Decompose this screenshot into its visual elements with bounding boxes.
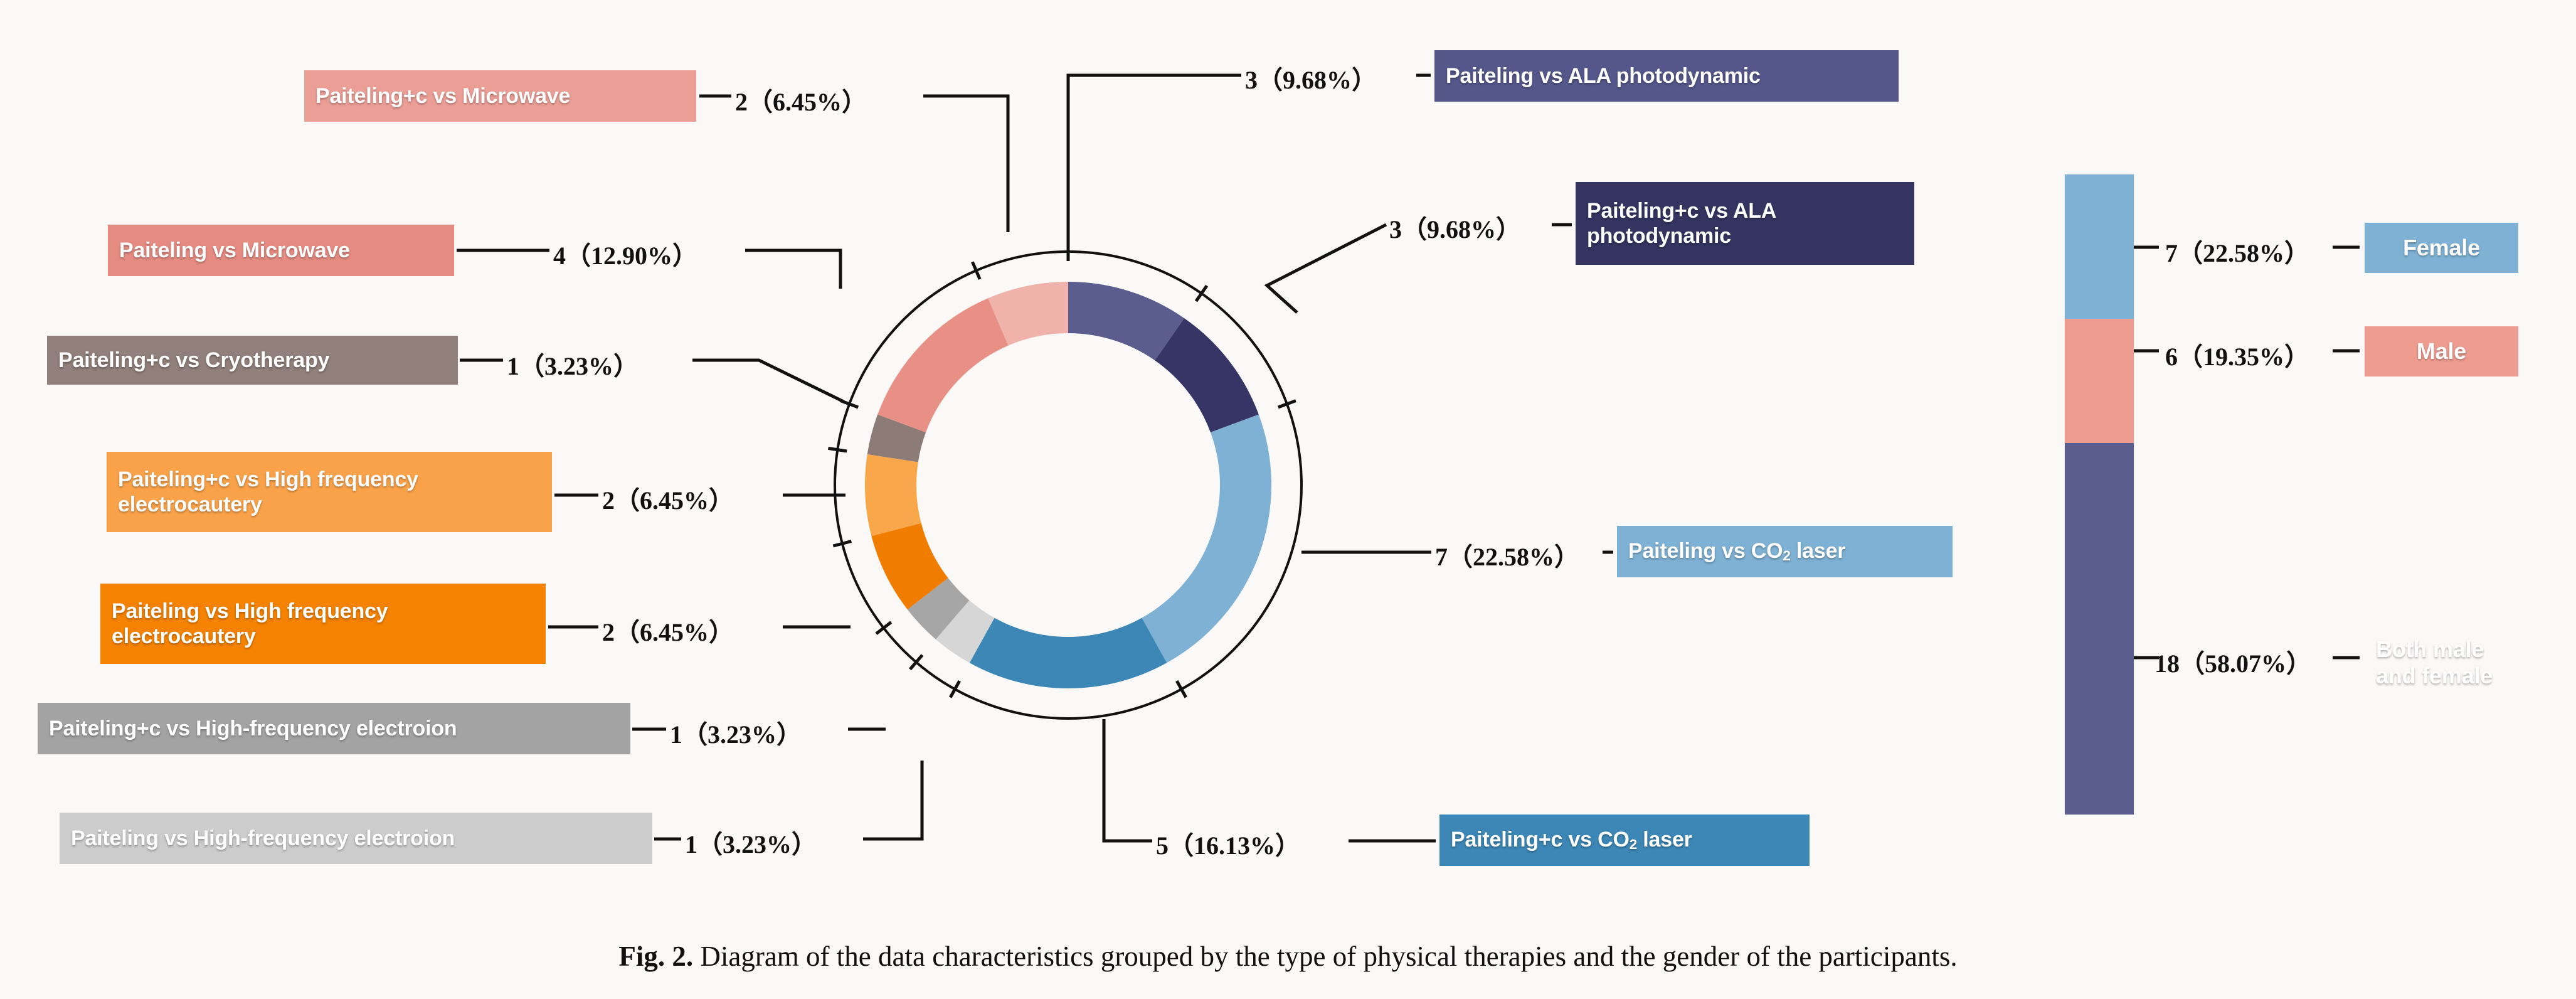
label-text: Both male and female	[2376, 636, 2510, 690]
figure-caption: Fig. 2. Diagram of the data characterist…	[0, 940, 2576, 973]
caption-text: Diagram of the data characteristics grou…	[700, 941, 1957, 972]
gender-leader-lines	[0, 0, 2576, 999]
label-male[interactable]: Male	[2365, 326, 2518, 377]
value-female: 7（22.58%）	[2165, 233, 2309, 269]
value-both-male-and-female: 18（58.07%）	[2155, 643, 2311, 680]
label-text: Male	[2417, 338, 2466, 365]
label-both-male-and-female[interactable]: Both male and female	[2365, 621, 2521, 704]
figure-canvas: Paiteling+c vs Microwave 2（6.45%） Paitel…	[0, 0, 2576, 999]
caption-label: Fig. 2.	[618, 941, 693, 972]
value-male: 6（19.35%）	[2165, 336, 2309, 373]
label-text: Female	[2403, 235, 2480, 261]
label-female[interactable]: Female	[2365, 223, 2518, 273]
